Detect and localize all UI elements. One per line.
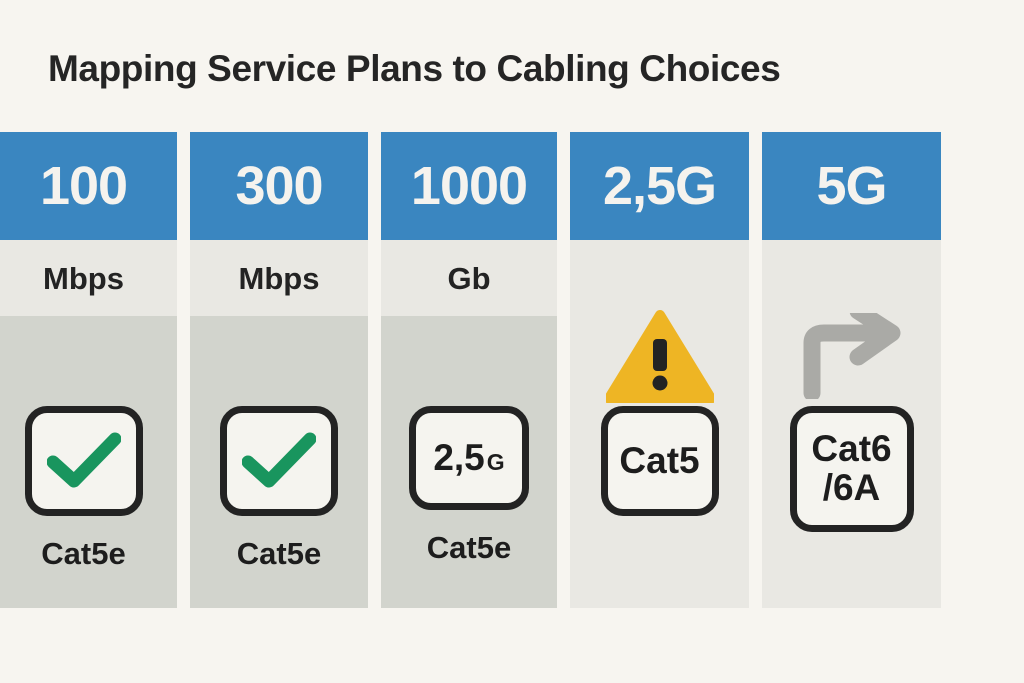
plan-unit-band: Mbps	[0, 240, 177, 316]
cable-chip[interactable]: 2,5 G	[409, 406, 529, 510]
plan-column-2-5g[interactable]: 2,5G Cat5	[570, 132, 749, 608]
plan-unit-band: Mbps	[190, 240, 368, 316]
plan-column-5g[interactable]: 5G Cat6 /6A	[762, 132, 941, 608]
infographic-root: Mapping Service Plans to Cabling Choices…	[0, 0, 1024, 683]
cable-chip[interactable]	[25, 406, 143, 516]
warning-triangle-icon	[606, 309, 714, 403]
cable-chip[interactable]: Cat6 /6A	[790, 406, 914, 532]
plan-speed-value: 300	[235, 159, 322, 213]
status-slot	[800, 306, 904, 406]
check-icon	[47, 431, 121, 491]
plan-speed-header: 2,5G	[570, 132, 749, 240]
cable-caption: Cat5e	[427, 532, 511, 563]
plan-body: Cat5	[570, 316, 749, 608]
cable-caption: Cat5e	[41, 538, 125, 569]
plan-speed-value: 100	[40, 159, 127, 213]
cable-chip[interactable]: Cat5	[601, 406, 719, 516]
plan-speed-header: 300	[190, 132, 368, 240]
plan-column-100[interactable]: 100 Mbps Cat5e	[0, 132, 177, 608]
page-title: Mapping Service Plans to Cabling Choices	[48, 48, 780, 90]
turn-right-arrow-icon	[800, 313, 904, 399]
plan-unit-label: Mbps	[239, 263, 320, 294]
plan-speed-header: 100	[0, 132, 177, 240]
cable-chip-value: Cat5	[619, 442, 699, 481]
cable-chip-unit: G	[487, 450, 505, 474]
plan-unit-band	[762, 240, 941, 316]
plan-unit-label: Gb	[447, 263, 490, 294]
plan-speed-header: 1000	[381, 132, 557, 240]
cable-chip-value: 2,5	[433, 439, 484, 478]
cable-chip-value: Cat6 /6A	[811, 430, 891, 508]
check-icon	[242, 431, 316, 491]
plan-columns: 100 Mbps Cat5e 300 Mbps	[0, 132, 1024, 608]
plan-unit-label: Mbps	[43, 263, 124, 294]
plan-body: Cat5e	[0, 316, 177, 608]
cable-caption: Cat5e	[237, 538, 321, 569]
plan-unit-band	[570, 240, 749, 316]
plan-body: Cat5e	[190, 316, 368, 608]
plan-speed-value: 1000	[411, 159, 527, 213]
plan-column-1000[interactable]: 1000 Gb 2,5 G Cat5e	[381, 132, 557, 608]
cable-chip[interactable]	[220, 406, 338, 516]
plan-speed-value: 5G	[816, 159, 886, 213]
plan-body: Cat6 /6A	[762, 316, 941, 608]
plan-body: 2,5 G Cat5e	[381, 316, 557, 608]
plan-unit-band: Gb	[381, 240, 557, 316]
plan-column-300[interactable]: 300 Mbps Cat5e	[190, 132, 368, 608]
status-slot	[606, 306, 714, 406]
plan-speed-header: 5G	[762, 132, 941, 240]
plan-speed-value: 2,5G	[603, 159, 716, 213]
